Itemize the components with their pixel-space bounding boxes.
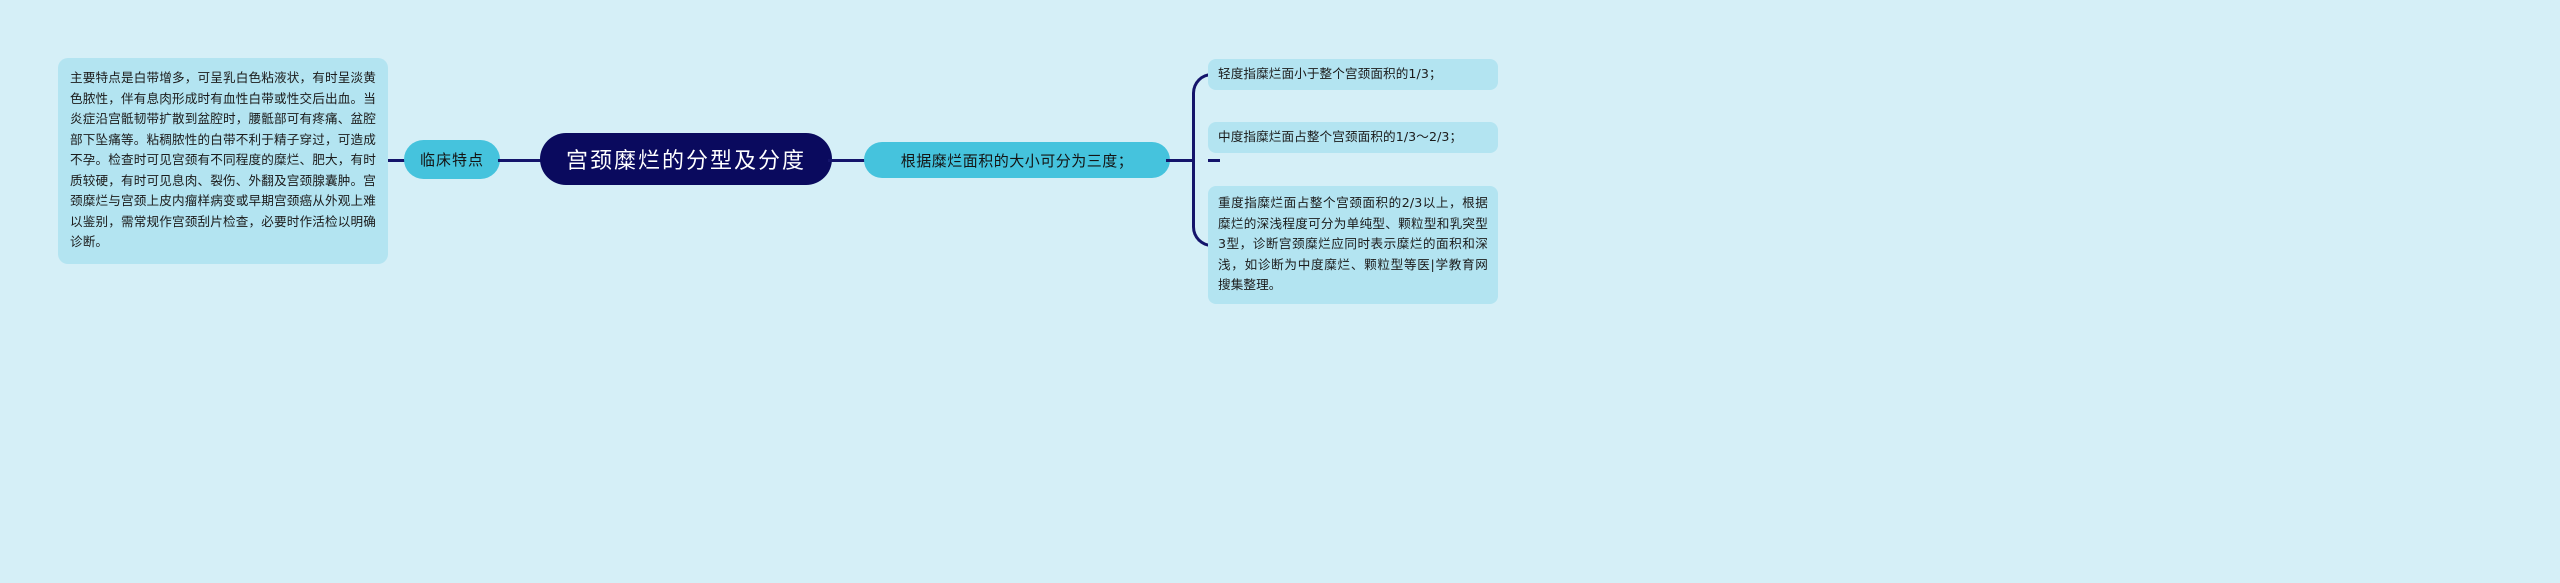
- bracket-stub-item-2: [1208, 159, 1220, 162]
- connector-degree-pill-to-bracket: [1166, 159, 1194, 162]
- clinical-features-detail-card: 主要特点是白带增多，可呈乳白色粘液状，有时呈淡黄色脓性，伴有息肉形成时有血性白带…: [58, 58, 388, 264]
- center-node-title[interactable]: 宫颈糜烂的分型及分度: [540, 133, 832, 185]
- branch-node-degree-classification[interactable]: 根据糜烂面积的大小可分为三度；: [864, 142, 1170, 178]
- mindmap-canvas: 主要特点是白带增多，可呈乳白色粘液状，有时呈淡黄色脓性，伴有息肉形成时有血性白带…: [0, 0, 2560, 583]
- branch-node-clinical-features[interactable]: 临床特点: [404, 140, 500, 179]
- degree-item-mild-card: 轻度指糜烂面小于整个宫颈面积的1/3；: [1208, 59, 1498, 90]
- degree-item-moderate-card: 中度指糜烂面占整个宫颈面积的1/3～2/3；: [1208, 122, 1498, 153]
- connector-clinical-pill-to-center: [498, 159, 544, 162]
- degree-item-severe-card: 重度指糜烂面占整个宫颈面积的2/3以上，根据糜烂的深浅程度可分为单纯型、颗粒型和…: [1208, 186, 1498, 304]
